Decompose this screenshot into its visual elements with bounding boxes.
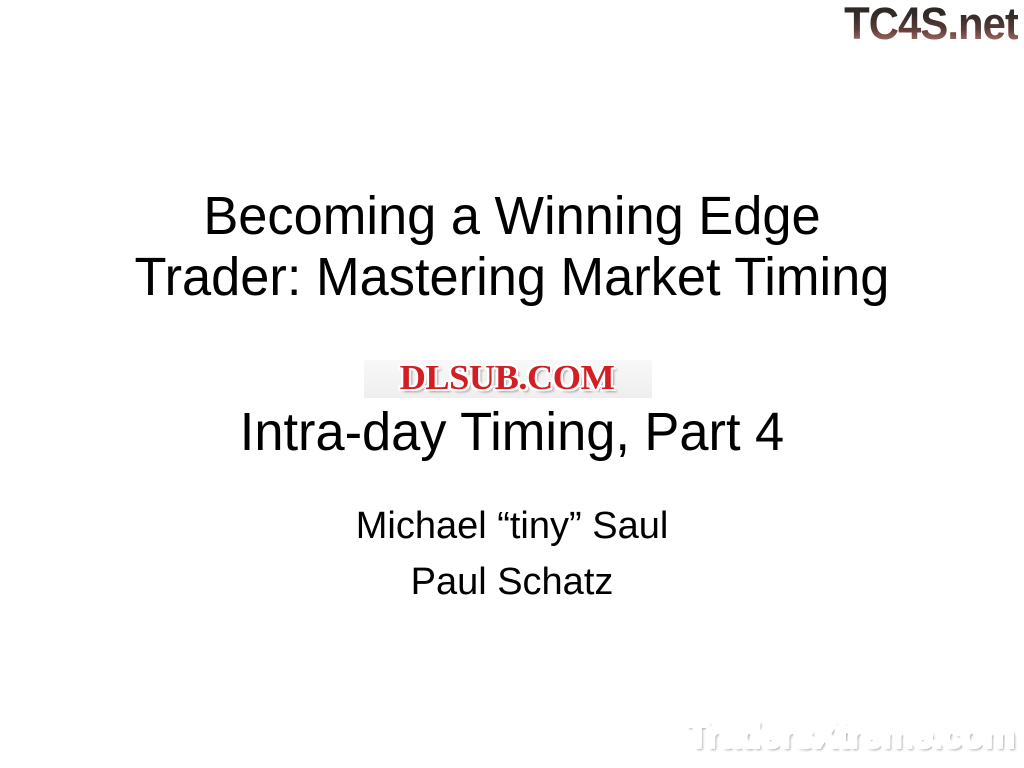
presentation-slide: TC4S.net Becoming a Winning Edge Trader:… — [0, 0, 1024, 768]
slide-title: Becoming a Winning Edge Trader: Masterin… — [0, 186, 1024, 308]
slide-subtitle-line-1: Intra-day Timing, Part 4 — [15, 402, 1008, 463]
author-name-secondary: Paul Schatz — [0, 554, 1024, 610]
tradersxtreme-watermark: TradersXtreme.com — [681, 714, 1019, 760]
slide-authors: Michael “tiny” Saul Paul Schatz — [0, 498, 1024, 610]
slide-title-line-1: Becoming a Winning Edge — [15, 186, 1008, 247]
tc4s-logo-watermark: TC4S.net — [844, 2, 1018, 46]
dlsub-watermark-text: DLSUB.COM — [356, 358, 658, 398]
tradersxtreme-watermark-text: TradersXtreme.com — [681, 714, 1019, 756]
dlsub-watermark: DLSUB.COM — [362, 358, 652, 400]
tradersxtreme-watermark-label: TradersXtreme.com — [686, 714, 1014, 755]
slide-subtitle: Intra-day Timing, Part 4 — [0, 402, 1024, 463]
author-name-primary: Michael “tiny” Saul — [0, 498, 1024, 554]
slide-title-line-2: Trader: Mastering Market Timing — [15, 247, 1008, 308]
